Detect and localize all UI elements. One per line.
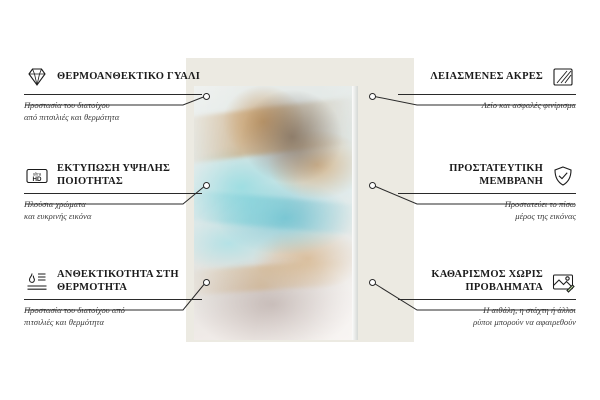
feature-title: ΘΕΡΜΟΑΝΘΕΚΤΙΚΟ ΓΥΑΛΙ: [57, 71, 200, 84]
feature-protective-film: ΠΡΟΣΤΑΤΕΥΤΙΚΗ ΜΕΜΒΡΑΝΗ Προστατεύει το πί…: [398, 163, 576, 223]
smooth-edges-icon: [550, 64, 576, 90]
feature-divider: [398, 193, 576, 194]
feature-header: ΑΝΘΕΚΤΙΚΟΤΗΤΑ ΣΤΗ ΘΕΡΜΟΤΗΤΑ: [24, 269, 202, 295]
feature-description: Προστασία του διατοίχου από πιτσιλιές κα…: [24, 304, 202, 329]
anchor-dot-left-top: [203, 93, 210, 100]
anchor-dot-left-bottom: [203, 279, 210, 286]
shield-icon: [550, 163, 576, 189]
feature-high-quality-print: ultra HD ΕΚΤΥΠΩΣΗ ΥΨΗΛΗΣ ΠΟΙΟΤΗΤΑΣ Πλούσ…: [24, 163, 202, 223]
feature-title: ΛΕΙΑΣΜΕΝΕΣ ΑΚΡΕΣ: [430, 71, 543, 84]
feature-description: Προστασία του διατοίχου από πιτσιλιές κα…: [24, 99, 202, 124]
anchor-dot-right-middle: [369, 182, 376, 189]
feature-smooth-edges: ΛΕΙΑΣΜΕΝΕΣ ΑΚΡΕΣ Λείο και ασφαλές φινίρι…: [398, 64, 576, 111]
feature-header: ultra HD ΕΚΤΥΠΩΣΗ ΥΨΗΛΗΣ ΠΟΙΟΤΗΤΑΣ: [24, 163, 202, 189]
feature-title: ΕΚΤΥΠΩΣΗ ΥΨΗΛΗΣ ΠΟΙΟΤΗΤΑΣ: [57, 163, 202, 188]
anchor-dot-left-middle: [203, 182, 210, 189]
svg-text:HD: HD: [33, 176, 42, 183]
feature-heat-resistant-glass: ΘΕΡΜΟΑΝΘΕΚΤΙΚΟ ΓΥΑΛΙ Προστασία του διατο…: [24, 64, 202, 124]
feature-title: ΑΝΘΕΚΤΙΚΟΤΗΤΑ ΣΤΗ ΘΕΡΜΟΤΗΤΑ: [57, 269, 202, 294]
feature-easy-cleaning: ΚΑΘΑΡΙΣΜΟΣ ΧΩΡΙΣ ΠΡΟΒΛΗΜΑΤΑ Η αιθάλη, η …: [398, 269, 576, 329]
feature-description: Πλούσια χρώματα και ευκρινής εικόνα: [24, 198, 202, 223]
feature-header: ΘΕΡΜΟΑΝΘΕΚΤΙΚΟ ΓΥΑΛΙ: [24, 64, 202, 90]
feature-divider: [24, 94, 202, 95]
easy-cleaning-icon: [550, 269, 576, 295]
heat-resistant-icon: [24, 269, 50, 295]
feature-divider: [398, 94, 576, 95]
infographic-canvas: ΘΕΡΜΟΑΝΘΕΚΤΙΚΟ ΓΥΑΛΙ Προστασία του διατο…: [0, 0, 600, 400]
feature-header: ΠΡΟΣΤΑΤΕΥΤΙΚΗ ΜΕΜΒΡΑΝΗ: [398, 163, 576, 189]
ultra-hd-icon: ultra HD: [24, 163, 50, 189]
diamond-icon: [24, 64, 50, 90]
feature-header: ΚΑΘΑΡΙΣΜΟΣ ΧΩΡΙΣ ΠΡΟΒΛΗΜΑΤΑ: [398, 269, 576, 295]
feature-divider: [398, 299, 576, 300]
feature-divider: [24, 193, 202, 194]
feature-divider: [24, 299, 202, 300]
anchor-dot-right-top: [369, 93, 376, 100]
anchor-dot-right-bottom: [369, 279, 376, 286]
feature-description: Προστατεύει το πίσω μέρος της εικόνας: [398, 198, 576, 223]
feature-description: Λείο και ασφαλές φινίρισμα: [398, 99, 576, 111]
feature-title: ΚΑΘΑΡΙΣΜΟΣ ΧΩΡΙΣ ΠΡΟΒΛΗΜΑΤΑ: [398, 269, 543, 294]
feature-title: ΠΡΟΣΤΑΤΕΥΤΙΚΗ ΜΕΜΒΡΑΝΗ: [398, 163, 543, 188]
feature-description: Η αιθάλη, η στάχτη ή άλλοι ρύποι μπορούν…: [398, 304, 576, 329]
feature-header: ΛΕΙΑΣΜΕΝΕΣ ΑΚΡΕΣ: [398, 64, 576, 90]
feature-heat-durability: ΑΝΘΕΚΤΙΚΟΤΗΤΑ ΣΤΗ ΘΕΡΜΟΤΗΤΑ Προστασία το…: [24, 269, 202, 329]
